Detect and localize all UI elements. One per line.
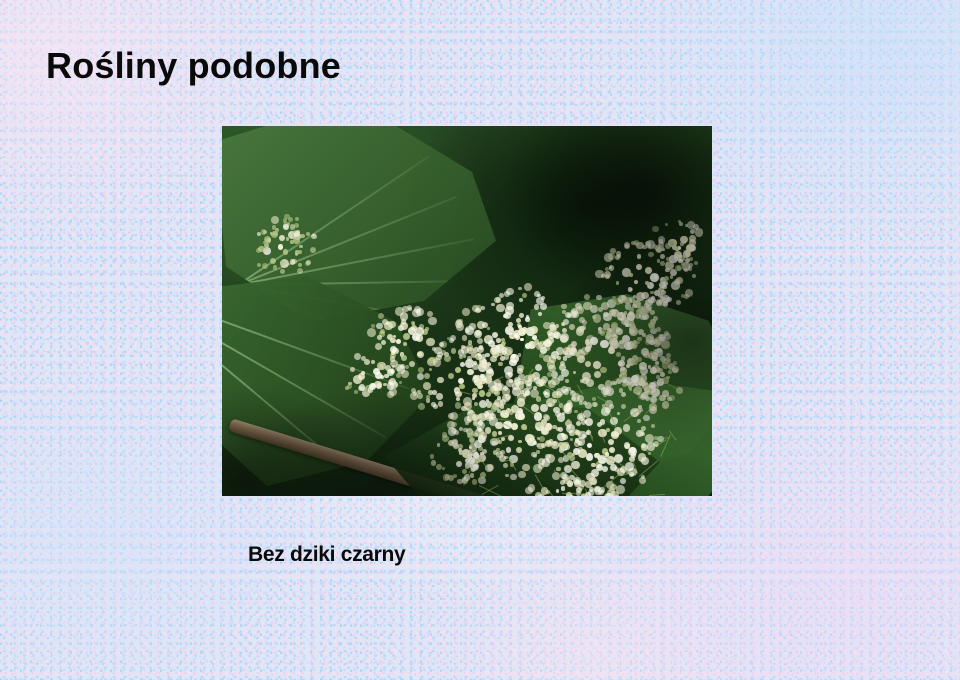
floret: [649, 340, 654, 345]
floret: [369, 383, 376, 390]
floret: [572, 393, 581, 402]
elderflower-photo: [222, 126, 712, 496]
floret: [628, 447, 637, 456]
floret: [455, 367, 461, 373]
floret: [676, 300, 681, 305]
floret: [290, 224, 296, 230]
floret: [475, 308, 481, 314]
floret: [426, 395, 430, 399]
floret: [486, 401, 493, 408]
floret: [628, 287, 633, 292]
floret: [560, 472, 567, 479]
floret: [663, 301, 669, 307]
floret: [547, 372, 552, 377]
floret: [612, 296, 616, 300]
floret: [604, 253, 613, 262]
floret: [283, 224, 289, 230]
floret: [500, 404, 505, 409]
floret: [629, 273, 633, 277]
floret: [648, 252, 653, 257]
floret: [418, 403, 425, 410]
floret: [592, 402, 597, 407]
floret: [298, 250, 302, 254]
floret: [361, 371, 365, 375]
floret: [556, 467, 561, 472]
floret: [631, 375, 639, 383]
floret: [361, 356, 366, 361]
floret: [481, 306, 485, 310]
floret: [525, 317, 530, 322]
floret: [621, 404, 626, 409]
page-title: Rośliny podobne: [46, 46, 341, 86]
floret: [556, 489, 560, 493]
floret: [662, 361, 665, 364]
floret: [439, 342, 444, 347]
floret: [611, 491, 619, 496]
floret: [467, 369, 474, 376]
floret: [601, 387, 609, 395]
floret: [596, 295, 602, 301]
floret: [532, 335, 537, 340]
floret: [534, 412, 543, 421]
floret: [565, 379, 569, 383]
floret: [552, 425, 556, 429]
floret: [411, 388, 416, 393]
floret: [664, 405, 667, 408]
floret: [528, 484, 536, 492]
floret: [648, 322, 655, 329]
floret: [593, 361, 601, 369]
floret: [270, 258, 276, 264]
floret: [553, 331, 560, 338]
floret: [681, 294, 685, 298]
floret: [448, 373, 454, 379]
floret: [462, 308, 470, 316]
floret: [271, 216, 279, 224]
floret: [491, 406, 497, 412]
floret: [692, 274, 696, 278]
floret: [659, 282, 666, 289]
floret: [620, 478, 626, 484]
floret: [601, 302, 609, 310]
floret: [660, 254, 665, 259]
floret: [263, 230, 267, 234]
floret: [458, 349, 465, 356]
floret: [549, 324, 556, 331]
floret: [542, 458, 550, 466]
floret: [498, 431, 502, 435]
floret: [306, 260, 311, 265]
floret: [408, 307, 412, 311]
floret: [396, 373, 401, 378]
floret: [403, 333, 410, 340]
floret: [636, 264, 642, 270]
floret: [367, 328, 376, 337]
floret: [569, 324, 575, 330]
floret: [672, 368, 678, 374]
floret: [514, 379, 521, 386]
floret: [525, 390, 530, 395]
floret: [566, 348, 570, 352]
floret: [455, 320, 463, 328]
floret: [535, 422, 541, 428]
floret: [518, 471, 526, 479]
floret: [603, 323, 610, 330]
floret: [541, 427, 548, 434]
floret: [637, 419, 642, 424]
floret: [396, 339, 401, 344]
floret: [426, 338, 435, 347]
floret: [502, 350, 507, 355]
floret: [500, 410, 509, 419]
floret: [652, 244, 657, 249]
floret: [537, 443, 544, 450]
floret: [656, 327, 661, 332]
floret: [468, 340, 473, 345]
floret: [606, 331, 610, 335]
floret: [417, 393, 423, 399]
floret: [273, 265, 278, 270]
floret: [472, 363, 479, 370]
floret: [412, 322, 415, 325]
floret: [518, 287, 522, 291]
floret: [669, 241, 674, 246]
floret: [661, 246, 665, 250]
floret: [519, 298, 523, 302]
floret: [450, 335, 456, 341]
floret: [590, 337, 598, 345]
floret: [615, 255, 620, 260]
floret: [561, 304, 567, 310]
floret: [661, 340, 670, 349]
floret: [511, 423, 518, 430]
floret: [639, 362, 647, 370]
floret: [280, 269, 285, 274]
floret: [511, 405, 519, 413]
floret: [629, 387, 633, 391]
floret: [644, 303, 649, 308]
floret: [283, 218, 287, 222]
floret: [518, 328, 526, 336]
floret: [428, 317, 436, 325]
floret: [417, 373, 424, 380]
floret: [458, 378, 464, 384]
floret: [688, 266, 693, 271]
pedicel: [562, 493, 586, 495]
floret: [666, 376, 670, 380]
floret: [651, 355, 658, 362]
floret: [603, 312, 608, 317]
floret: [485, 353, 489, 357]
floret: [597, 422, 602, 427]
floret: [386, 321, 390, 325]
slide-canvas: Rośliny podobne Bez dziki czarny: [0, 0, 960, 680]
floret: [637, 254, 642, 259]
floret: [645, 281, 649, 285]
photo-caption: Bez dziki czarny: [248, 543, 405, 567]
floret: [560, 361, 565, 366]
floret: [517, 368, 523, 374]
floret: [561, 442, 567, 448]
floret: [378, 313, 384, 319]
floret: [387, 382, 395, 390]
floret: [506, 447, 512, 453]
floret: [693, 224, 699, 230]
floret: [573, 371, 577, 375]
floret: [591, 463, 596, 468]
floret: [639, 430, 644, 435]
floret: [650, 367, 657, 374]
floret: [506, 288, 514, 296]
floret: [604, 271, 611, 278]
floret: [264, 243, 269, 248]
floret: [310, 247, 316, 253]
floret: [445, 474, 451, 480]
floret: [538, 312, 542, 316]
floret: [582, 434, 586, 438]
floret: [567, 425, 571, 429]
floret: [609, 404, 614, 409]
floret: [505, 306, 514, 315]
floret: [561, 486, 566, 491]
floret: [457, 479, 462, 484]
floret: [488, 340, 495, 347]
floret: [498, 362, 503, 367]
floret: [655, 361, 659, 365]
floret: [492, 431, 498, 437]
floret: [545, 440, 552, 447]
floret: [601, 407, 610, 416]
floret: [437, 377, 444, 384]
floret: [560, 480, 565, 485]
floret: [616, 281, 619, 284]
floret: [627, 312, 636, 321]
floret: [608, 439, 614, 445]
floret: [485, 427, 491, 433]
floret: [460, 362, 465, 367]
floret: [482, 322, 488, 328]
floret: [257, 263, 261, 267]
floret: [496, 304, 505, 313]
floret: [395, 307, 404, 316]
floret: [641, 444, 648, 451]
floret: [472, 376, 479, 383]
floret: [650, 273, 659, 282]
floret: [311, 234, 317, 240]
floret: [636, 242, 643, 249]
floret: [598, 330, 602, 334]
floret: [600, 367, 607, 374]
floret: [459, 384, 464, 389]
floret: [657, 348, 662, 353]
floret: [518, 413, 525, 420]
floret: [306, 232, 309, 235]
floret: [685, 289, 693, 297]
floret: [417, 390, 421, 394]
floret: [676, 277, 683, 284]
floret: [426, 398, 431, 403]
floret: [645, 241, 650, 246]
floret: [664, 331, 669, 336]
floret: [561, 322, 565, 326]
floret: [623, 424, 631, 432]
floret: [463, 397, 472, 406]
floret: [619, 340, 624, 345]
floret: [533, 464, 542, 473]
floret: [575, 438, 580, 443]
floret: [416, 308, 424, 316]
floret: [552, 441, 557, 446]
floret: [537, 294, 541, 298]
floret: [438, 401, 443, 406]
floret: [529, 435, 535, 441]
floret: [659, 239, 663, 243]
floret: [586, 379, 593, 386]
floret: [428, 390, 433, 395]
floret: [400, 322, 407, 329]
floret: [543, 355, 551, 363]
floret: [448, 427, 457, 436]
floret: [377, 335, 382, 340]
floret: [492, 332, 498, 338]
floret: [295, 217, 299, 221]
floret: [548, 365, 556, 373]
floret: [436, 393, 443, 400]
floret: [641, 426, 646, 431]
floret: [444, 355, 451, 362]
floret: [611, 322, 618, 329]
floret: [380, 375, 384, 379]
floret: [563, 389, 569, 395]
floret: [423, 382, 431, 390]
floret: [673, 246, 677, 250]
floret: [286, 237, 290, 241]
floret: [465, 465, 469, 469]
floret: [293, 237, 300, 244]
floret: [621, 356, 626, 361]
floret: [462, 335, 467, 340]
floret: [681, 262, 685, 266]
floret: [371, 360, 375, 364]
floret: [576, 327, 585, 336]
floret: [264, 236, 271, 243]
floret: [488, 388, 494, 394]
floret: [465, 326, 474, 335]
floret: [650, 310, 655, 315]
floret: [455, 402, 461, 408]
floret: [541, 420, 545, 424]
floret: [371, 324, 375, 328]
floret: [660, 372, 665, 377]
floret: [645, 267, 652, 274]
floret: [645, 434, 654, 443]
floret: [478, 386, 482, 390]
floret: [430, 454, 434, 458]
floret: [560, 333, 569, 342]
floret: [472, 479, 477, 484]
floret: [283, 249, 288, 254]
floret: [347, 384, 352, 389]
floret: [587, 443, 592, 448]
floret: [636, 341, 640, 345]
